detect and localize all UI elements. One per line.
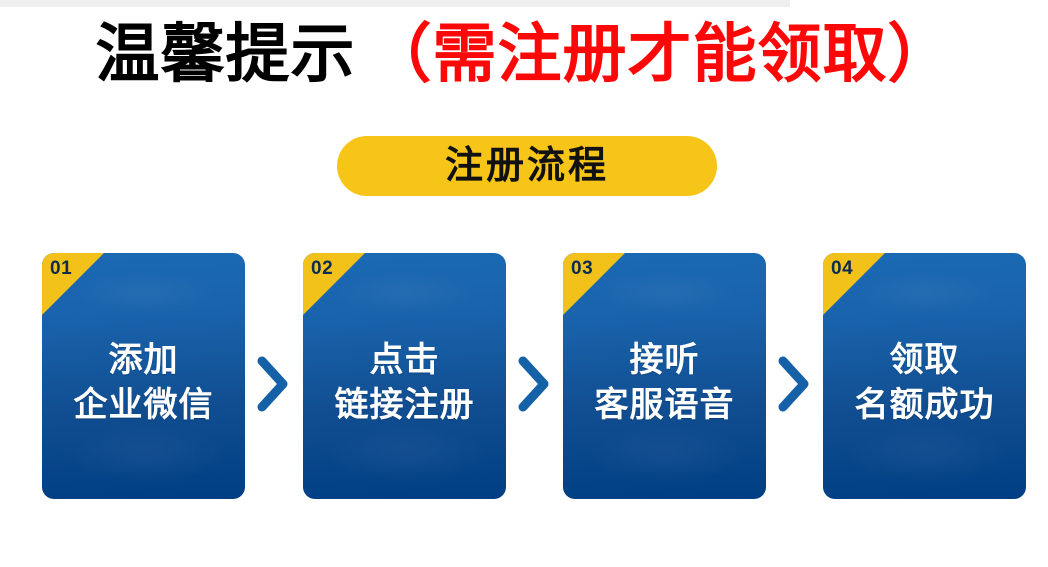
step-card-4[interactable]: 04 领取 名额成功 — [823, 253, 1026, 499]
chevron-right-icon — [778, 356, 810, 412]
step-card-1-text: 添加 企业微信 — [42, 253, 245, 499]
step-label-line1: 添加 — [109, 338, 179, 383]
step-label-line2: 名额成功 — [855, 383, 995, 428]
step-label-line2: 企业微信 — [74, 383, 214, 428]
step-card-4-text: 领取 名额成功 — [823, 253, 1026, 499]
top-gray-strip — [0, 0, 790, 7]
step-label-line2: 客服语音 — [595, 383, 735, 428]
chevron-right-icon — [518, 356, 550, 412]
step-label-line1: 点击 — [370, 338, 440, 383]
step-card-3-text: 接听 客服语音 — [563, 253, 766, 499]
step-card-2-text: 点击 链接注册 — [303, 253, 506, 499]
section-banner: 注册流程 — [337, 136, 717, 196]
page-title-main: 温馨提示 — [96, 18, 356, 90]
page-title-note: （需注册才能领取） — [368, 18, 953, 90]
step-card-3[interactable]: 03 接听 客服语音 — [563, 253, 766, 499]
step-label-line2: 链接注册 — [335, 383, 475, 428]
step-label-line1: 接听 — [630, 338, 700, 383]
chevron-right-icon — [257, 356, 289, 412]
page-title: 温馨提示（需注册才能领取） — [0, 18, 1048, 92]
step-label-line1: 领取 — [890, 338, 960, 383]
step-card-2[interactable]: 02 点击 链接注册 — [303, 253, 506, 499]
step-card-1[interactable]: 01 添加 企业微信 — [42, 253, 245, 499]
section-banner-label: 注册流程 — [445, 147, 609, 185]
